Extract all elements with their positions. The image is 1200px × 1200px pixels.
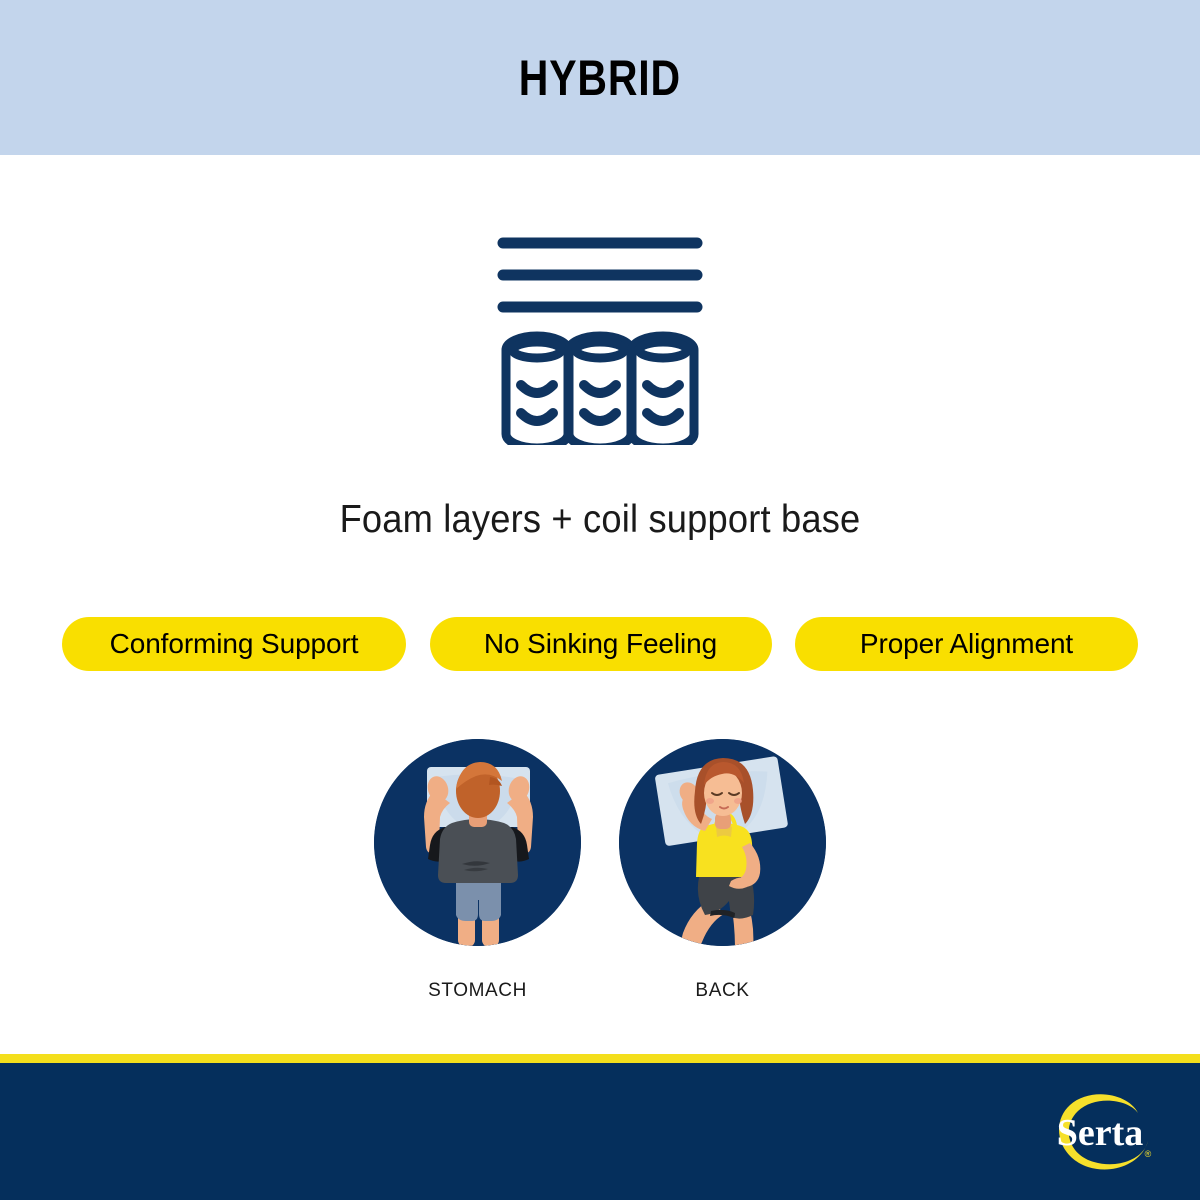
sleep-position-label-back: BACK xyxy=(695,980,749,1002)
back-sleeper-circle xyxy=(619,739,826,946)
stomach-sleeper-circle xyxy=(374,739,581,946)
sleep-position-back[interactable]: BACK xyxy=(619,739,826,1002)
benefit-pill-no-sinking-feeling[interactable]: No Sinking Feeling xyxy=(430,617,772,671)
sleep-position-label-stomach: STOMACH xyxy=(428,980,527,1002)
sleep-position-row: STOMACH xyxy=(0,739,1200,1002)
footer-accent-stripe xyxy=(0,1054,1200,1063)
benefit-pill-proper-alignment[interactable]: Proper Alignment xyxy=(795,617,1138,671)
footer-band xyxy=(0,1063,1200,1200)
foam-layers-coil-base-icon xyxy=(490,205,710,445)
header-band: HYBRID xyxy=(0,0,1200,155)
benefit-pill-row: Conforming Support No Sinking Feeling Pr… xyxy=(62,617,1138,671)
stomach-sleeper-illustration xyxy=(374,739,581,946)
registered-trademark-symbol: ® xyxy=(1145,1149,1152,1159)
sleep-position-stomach[interactable]: STOMACH xyxy=(374,739,581,1002)
construction-description: Foam layers + coil support base xyxy=(42,498,1158,542)
serta-logo[interactable]: Serta ® xyxy=(1044,1083,1162,1181)
serta-wordmark: Serta xyxy=(1057,1112,1144,1154)
back-sleeper-illustration xyxy=(619,739,826,946)
page-title: HYBRID xyxy=(519,49,681,107)
hero-icon-container xyxy=(0,205,1200,445)
benefit-pill-conforming-support[interactable]: Conforming Support xyxy=(62,617,406,671)
